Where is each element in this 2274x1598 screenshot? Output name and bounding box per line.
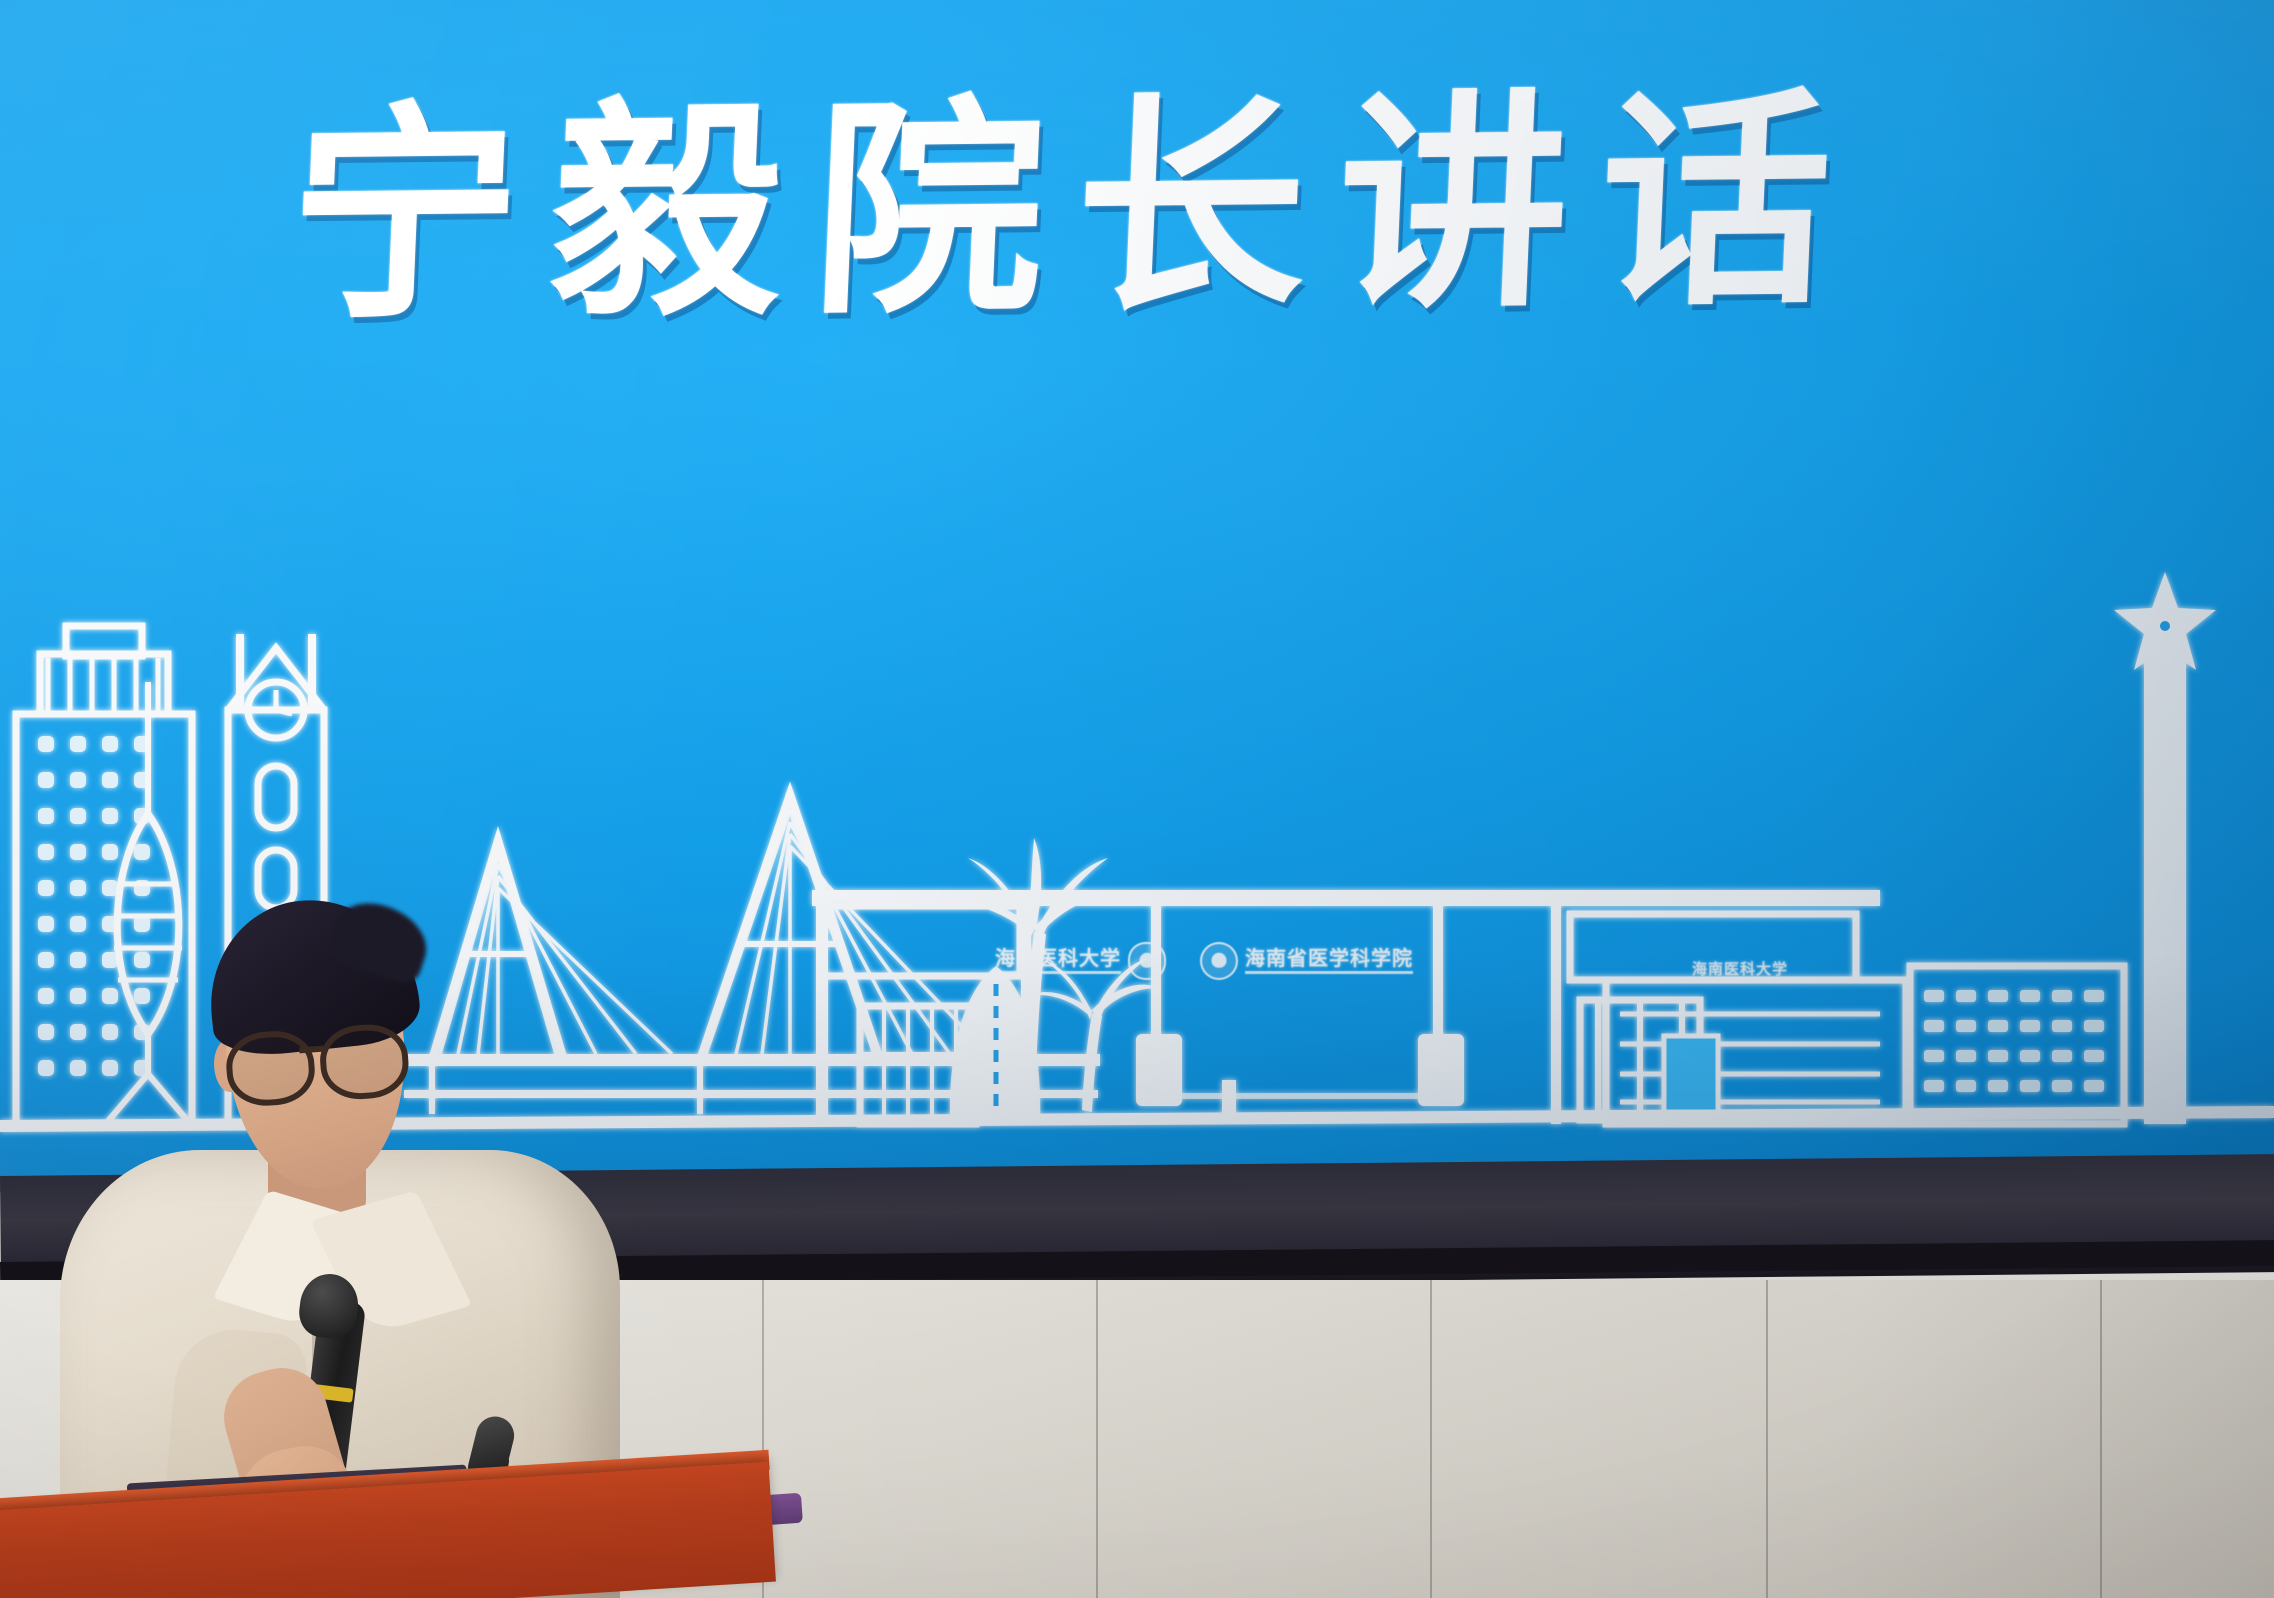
building-signage: 海南医科大学 — [1692, 958, 1788, 979]
eyeglasses-icon — [224, 1022, 414, 1097]
institution-logos: 海南医科大学 海南省医学科学院 — [995, 942, 1413, 980]
office-building — [1606, 966, 2124, 1124]
logo-group-university: 海南医科大学 — [995, 942, 1166, 980]
university-emblem-icon — [1128, 942, 1166, 980]
screen-title: 宁毅院长讲话 — [283, 49, 1996, 367]
eyeglass-bridge — [299, 1046, 323, 1054]
academy-name: 海南省医学科学院 — [1245, 948, 1413, 974]
academy-emblem-icon — [1200, 942, 1238, 980]
star-monument — [2114, 572, 2216, 1124]
logo-group-academy: 海南省医学科学院 — [1200, 942, 1413, 980]
university-name: 海南医科大学 — [995, 948, 1121, 974]
photo-scene: 宁毅院长讲话 — [0, 0, 2274, 1598]
